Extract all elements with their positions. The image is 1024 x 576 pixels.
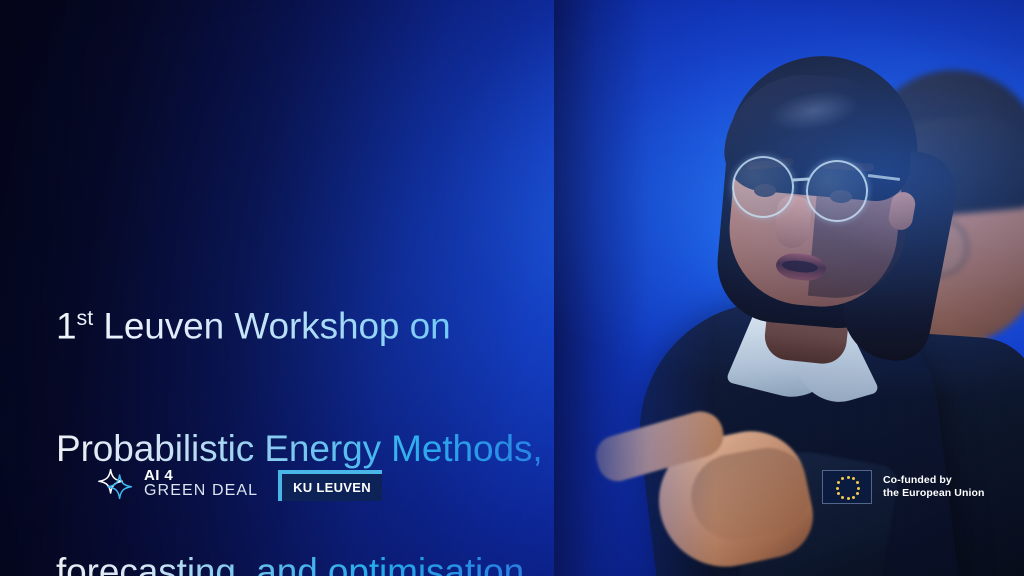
eu-star-icon: [847, 476, 850, 479]
poster-canvas: 1st Leuven Workshop on Probabilistic Ene…: [0, 0, 1024, 576]
eu-star-icon: [841, 477, 844, 480]
eu-flag-icon: [822, 470, 872, 504]
logo-ku-leuven[interactable]: KU LEUVEN: [278, 470, 382, 501]
eu-star-icon: [837, 481, 840, 484]
poster-headline: 1st Leuven Workshop on Probabilistic Ene…: [56, 216, 696, 576]
eu-star-icon: [852, 496, 855, 499]
headline-line-3: forecasting, and optimisation: [56, 551, 696, 576]
eu-star-icon: [856, 481, 859, 484]
ku-leuven-box: KU LEUVEN: [282, 474, 382, 501]
logo-eu-funding[interactable]: Co-funded by the European Union: [822, 470, 985, 504]
eu-funding-line-1: Co-funded by: [883, 474, 985, 487]
headline-line-2: Probabilistic Energy Methods,: [56, 428, 696, 469]
headline-line-1: 1st Leuven Workshop on: [56, 298, 696, 346]
eu-star-icon: [836, 487, 839, 490]
logo-ai-green-deal[interactable]: AI 4 GREEN DEAL: [98, 466, 258, 502]
ai-green-deal-line-2: GREEN DEAL: [144, 483, 258, 500]
ai-green-deal-line-1: AI 4: [144, 468, 258, 484]
eu-star-icon: [837, 492, 840, 495]
ku-leuven-label: KU LEUVEN: [293, 480, 371, 495]
eu-funding-line-2: the European Union: [883, 487, 985, 500]
eu-funding-text: Co-funded by the European Union: [883, 474, 985, 500]
eu-star-icon: [856, 492, 859, 495]
eu-star-icon: [857, 487, 860, 490]
headline-line-1-rest: Leuven Workshop on: [93, 305, 450, 346]
eu-star-icon: [841, 496, 844, 499]
eu-star-icon: [847, 497, 850, 500]
headline-ordinal-suffix: st: [76, 306, 93, 330]
ai-green-deal-text: AI 4 GREEN DEAL: [144, 468, 258, 501]
headline-ordinal-number: 1: [56, 305, 76, 346]
sparkle-star-icon: [98, 466, 134, 502]
eu-star-icon: [852, 477, 855, 480]
